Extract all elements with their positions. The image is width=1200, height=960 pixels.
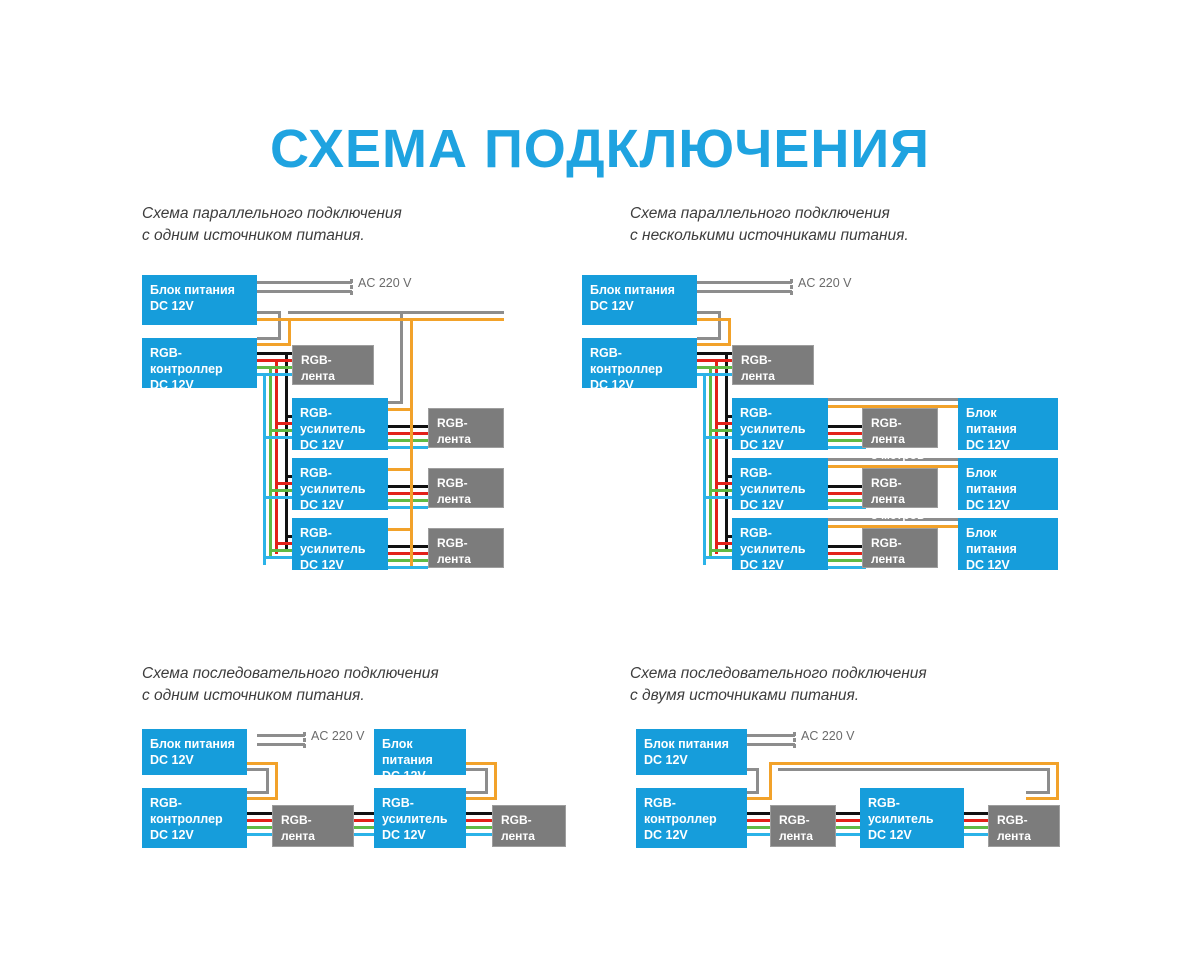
amp-strip2-black (963, 812, 991, 815)
ac-terminal-2 (793, 738, 796, 742)
dc-bus-orange-left-vert (769, 762, 772, 800)
ac-wire-line-1 (257, 734, 305, 737)
ac-mains-label: AC 220 V (801, 729, 855, 743)
psu-dc-orange-top (257, 318, 291, 321)
amp1-out-red (388, 432, 428, 435)
strip1-red (278, 359, 292, 362)
dc-bus-gray-vertical (400, 311, 403, 404)
amp3-out-black (828, 545, 866, 548)
amp2-out-blue (828, 506, 866, 509)
rgb-strip-block-1[interactable]: RGB-лента 5 метров (272, 805, 354, 847)
amp-strip2-blue (963, 833, 991, 836)
amp3-out-blue (388, 566, 428, 569)
power-supply-block[interactable]: Блок питания DC 12V (142, 275, 257, 325)
dc-bus-orange-horizontal (288, 318, 504, 321)
rgb-strip-block-2[interactable]: RGB-лента 5 метров (492, 805, 566, 847)
psu1-dc-orange-bottom (247, 797, 278, 800)
rgb-strip-block-2[interactable]: RGB-лента 5 метров (428, 408, 504, 448)
strip1-amp-green (835, 826, 861, 829)
rgb-strip-block-4[interactable]: RGB-лента 5 метров (862, 528, 938, 568)
amp3-out-green (388, 559, 428, 562)
amp-strip2-red (466, 819, 494, 822)
power-supply-block-4[interactable]: Блок питания DC 12V (958, 518, 1058, 570)
power-supply-block-2[interactable]: Блок питания DC 12V (958, 398, 1058, 450)
ac-terminal-2 (790, 285, 793, 289)
connection-schematic-page: СХЕМА ПОДКЛЮЧЕНИЯ Схема параллельного по… (0, 0, 1200, 960)
rgb-amplifier-block-1[interactable]: RGB-усилитель DC 12V (732, 398, 828, 450)
dc-bus-orange-top (769, 762, 1059, 765)
rgb-bus-green (709, 366, 712, 559)
psu1-dc-orange-top (247, 762, 278, 765)
ac-terminal-3 (350, 291, 353, 295)
power-supply-block-2[interactable]: Блок питания DC 12V (374, 729, 466, 775)
psu-dc-gray-vert (278, 311, 281, 340)
rgb-controller-block[interactable]: RGB-контроллер DC 12V (582, 338, 697, 388)
strip1-amp-blue (835, 833, 861, 836)
ac-terminal-3 (790, 291, 793, 295)
dc-bus-gray-top (778, 768, 1050, 771)
rgb-amplifier-block-2[interactable]: RGB-усилитель DC 12V (732, 458, 828, 510)
strip1-green (272, 366, 292, 369)
strip1-blue (266, 373, 292, 376)
ac-terminal-1 (303, 732, 306, 736)
strip1-black (257, 352, 292, 355)
ctrl-out-blue (257, 373, 266, 376)
rgb-strip-block-3[interactable]: RGB-лента 5 метров (428, 468, 504, 508)
psu2-dc-orange-top (466, 762, 497, 765)
amp-strip2-blue (466, 833, 494, 836)
ac-wire-line-2 (257, 290, 352, 293)
dc-bus-orange-right-vert (1056, 762, 1059, 800)
dc-bus-orange-right-stub (1026, 797, 1059, 800)
amp2-out-black (828, 485, 866, 488)
power-supply-block-3[interactable]: Блок питания DC 12V (958, 458, 1058, 510)
psu-dc-gray-bottom (697, 337, 721, 340)
rgb-bus-red (275, 359, 278, 554)
amp1-out-green (828, 439, 866, 442)
amp1-out-red (828, 432, 866, 435)
ctrl-out-blue (697, 373, 706, 376)
psu-dc-orange-vert (288, 318, 291, 346)
amp2-out-red (828, 492, 866, 495)
psu2-dc-orange-bottom (466, 797, 497, 800)
amp-strip2-black (466, 812, 494, 815)
ac-wire-line-2 (697, 290, 792, 293)
ctrl-out-red (257, 359, 278, 362)
psu2-dc-gray-bottom (466, 791, 488, 794)
amp1-out-black (828, 425, 866, 428)
power-supply-block[interactable]: Блок питания DC 12V (142, 729, 247, 775)
rgb-controller-block[interactable]: RGB-контроллер DC 12V (142, 338, 257, 388)
amp1-out-blue (828, 446, 866, 449)
strip1-black (697, 352, 732, 355)
ac-wire-line-1 (697, 281, 792, 284)
strip1-amp-red (835, 819, 861, 822)
rgb-bus-blue (263, 373, 266, 565)
strip1-red (718, 359, 732, 362)
rgb-strip-block-2[interactable]: RGB-лента 5 метров (988, 805, 1060, 847)
amp2-out-red (388, 492, 428, 495)
psu-dc-orange-bottom (697, 343, 731, 346)
ac-wire-line-2 (257, 743, 305, 746)
psu-dc-gray-bottom (257, 337, 281, 340)
ac-wire-line-1 (257, 281, 352, 284)
amp1-out-blue (388, 446, 428, 449)
ctrl-out-green (257, 366, 272, 369)
psu-dc-orange-bottom (257, 343, 291, 346)
rgb-amplifier-block-2[interactable]: RGB-усилитель DC 12V (292, 458, 388, 510)
ac-terminal-3 (793, 744, 796, 748)
dc-bus-gray-horizontal (288, 311, 504, 314)
amp2-out-black (388, 485, 428, 488)
psu-dc-gray-vert (718, 311, 721, 340)
power-supply-block[interactable]: Блок питания DC 12V (582, 275, 697, 325)
strip1-blue (706, 373, 732, 376)
rgb-bus-blue (703, 373, 706, 565)
psu1-dc-gray-bottom (247, 791, 269, 794)
ac-wire-line-2 (747, 743, 795, 746)
psu2-dc-orange-vert (494, 762, 497, 800)
dc-bus-gray-right-stub (1026, 791, 1050, 794)
rgb-strip-block-3[interactable]: RGB-лента 5 метров (862, 468, 938, 508)
psu-dc-orange-top (697, 318, 731, 321)
amp-strip2-green (466, 826, 494, 829)
rgb-amplifier-block-3[interactable]: RGB-усилитель DC 12V (732, 518, 828, 570)
amp3-out-black (388, 545, 428, 548)
strip1-amp-black (835, 812, 861, 815)
dc-bus-orange-vertical-overlay (410, 318, 413, 566)
ac-terminal-1 (790, 279, 793, 283)
rgb-controller-block[interactable]: RGB-контроллер DC 12V (142, 788, 247, 848)
rgb-amplifier-block-1[interactable]: RGB-усилитель DC 12V (374, 788, 466, 848)
ac-mains-label: AC 220 V (311, 729, 365, 743)
ac-terminal-1 (350, 279, 353, 283)
psu1-dc-orange-vert (275, 762, 278, 800)
amp3-out-red (388, 552, 428, 555)
rgb-strip-block-1[interactable]: RGB-лента 5 метров (292, 345, 374, 385)
amp-strip2-green (963, 826, 991, 829)
rgb-amplifier-block-1[interactable]: RGB-усилитель DC 12V (292, 398, 388, 450)
amp1-out-black (388, 425, 428, 428)
ac-terminal-1 (793, 732, 796, 736)
amp3-out-green (828, 559, 866, 562)
amp2-out-blue (388, 506, 428, 509)
rgb-strip-block-4[interactable]: RGB-лента 5 метров (428, 528, 504, 568)
rgb-controller-block[interactable]: RGB-контроллер DC 12V (636, 788, 747, 848)
ac-mains-label: AC 220 V (358, 276, 412, 290)
psu-dc-orange-vert (728, 318, 731, 346)
ctrl-out-green (697, 366, 712, 369)
ac-wire-line-1 (747, 734, 795, 737)
amp-strip2-red (963, 819, 991, 822)
power-supply-block[interactable]: Блок питания DC 12V (636, 729, 747, 775)
rgb-amplifier-block-1[interactable]: RGB-усилитель DC 12V (860, 788, 964, 848)
amp2-out-green (828, 499, 866, 502)
rgb-amplifier-block-3[interactable]: RGB-усилитель DC 12V (292, 518, 388, 570)
ac-mains-label: AC 220 V (798, 276, 852, 290)
ac-terminal-2 (350, 285, 353, 289)
rgb-bus-green (269, 366, 272, 559)
psu2-dc-gray (828, 398, 958, 401)
rgb-strip-block-1[interactable]: RGB-лента 5 метров (732, 345, 814, 385)
ac-terminal-2 (303, 738, 306, 742)
amp3-out-red (828, 552, 866, 555)
strip1-green (712, 366, 732, 369)
amp1-out-green (388, 439, 428, 442)
rgb-strip-block-2[interactable]: RGB-лента 5 метров (862, 408, 938, 448)
rgb-bus-black (285, 352, 288, 552)
rgb-strip-block-1[interactable]: RGB-лента 5 метров (770, 805, 836, 847)
rgb-bus-black (725, 352, 728, 552)
rgb-bus-red (715, 359, 718, 554)
ac-terminal-3 (303, 744, 306, 748)
amp2-out-green (388, 499, 428, 502)
ctrl-out-red (697, 359, 718, 362)
amp3-out-blue (828, 566, 866, 569)
